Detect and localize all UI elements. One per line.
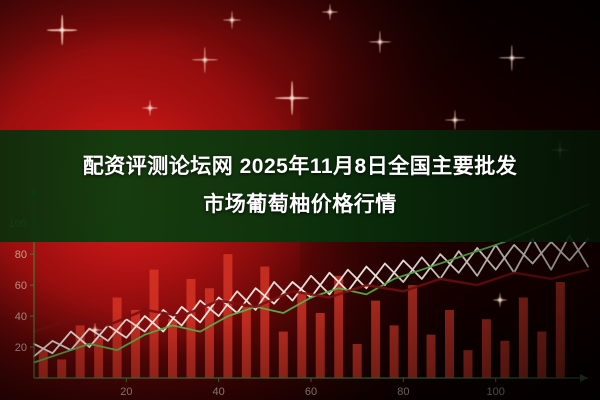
page-title-line-2: 市场葡萄柚价格行情: [203, 186, 397, 224]
page-title: 配资评测论坛网 2025年11月8日全国主要批发 市场葡萄柚价格行情: [0, 130, 600, 242]
screenshot-root: 2040608010020406080100 配资评测论坛网 2025年11月8…: [0, 0, 600, 400]
page-title-line-1: 配资评测论坛网 2025年11月8日全国主要批发: [83, 148, 517, 186]
